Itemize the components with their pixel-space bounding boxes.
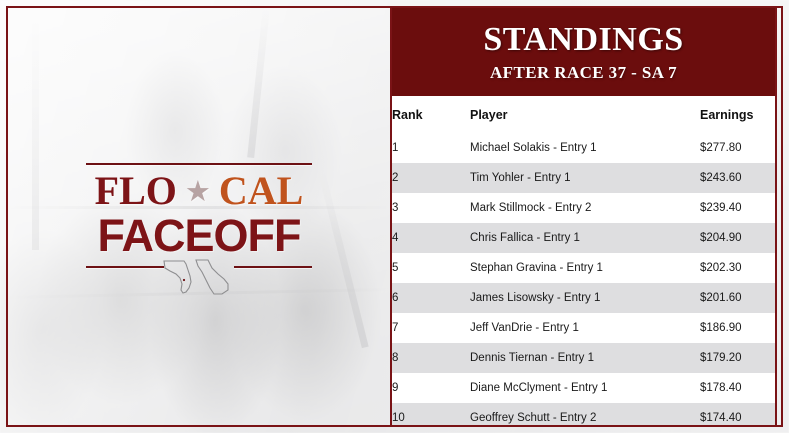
- cell-rank: 4: [392, 223, 470, 253]
- logo-bottom-row: [86, 264, 312, 294]
- cell-rank: 1: [392, 133, 470, 163]
- page-title: STANDINGS: [483, 23, 683, 57]
- logo-word-flo: FLO: [95, 171, 177, 211]
- table-row: 8Dennis Tiernan - Entry 1$179.20: [392, 343, 775, 373]
- page-subtitle: AFTER RACE 37 - SA 7: [490, 64, 677, 81]
- star-icon: ★: [185, 178, 211, 207]
- table-row: 4Chris Fallica - Entry 1$204.90: [392, 223, 775, 253]
- cell-player: James Lisowsky - Entry 1: [470, 283, 700, 313]
- cell-rank: 3: [392, 193, 470, 223]
- cell-earnings: $277.80: [700, 133, 775, 163]
- table-header-row: Rank Player Earnings: [392, 96, 775, 133]
- cell-earnings: $186.90: [700, 313, 775, 343]
- standings-table: Rank Player Earnings 1Michael Solakis - …: [392, 96, 775, 427]
- column-header-rank: Rank: [392, 96, 470, 133]
- cell-player: Michael Solakis - Entry 1: [470, 133, 700, 163]
- table-row: 2Tim Yohler - Entry 1$243.60: [392, 163, 775, 193]
- column-header-player: Player: [470, 96, 700, 133]
- florida-california-outline-icon: [162, 258, 238, 296]
- table-row: 7Jeff VanDrie - Entry 1$186.90: [392, 313, 775, 343]
- logo-bottom-rule-right: [234, 266, 312, 268]
- cell-rank: 6: [392, 283, 470, 313]
- standings-header: STANDINGS AFTER RACE 37 - SA 7: [392, 8, 775, 96]
- table-row: 10Geoffrey Schutt - Entry 2$174.40: [392, 403, 775, 427]
- cell-player: Jeff VanDrie - Entry 1: [470, 313, 700, 343]
- table-row: 9Diane McClyment - Entry 1$178.40: [392, 373, 775, 403]
- cell-player: Stephan Gravina - Entry 1: [470, 253, 700, 283]
- cell-player: Tim Yohler - Entry 1: [470, 163, 700, 193]
- cell-earnings: $202.30: [700, 253, 775, 283]
- cell-earnings: $201.60: [700, 283, 775, 313]
- standings-panel: STANDINGS AFTER RACE 37 - SA 7 Rank Play…: [390, 6, 777, 427]
- flo-cal-faceoff-logo: FLO ★ CAL FACEOFF: [86, 163, 312, 294]
- cell-player: Chris Fallica - Entry 1: [470, 223, 700, 253]
- cell-rank: 5: [392, 253, 470, 283]
- cell-earnings: $239.40: [700, 193, 775, 223]
- logo-top-rule: [86, 163, 312, 165]
- standings-graphic: FLO ★ CAL FACEOFF STANDINGS AFTER RACE 3…: [0, 0, 789, 433]
- logo-word-cal: CAL: [219, 171, 303, 211]
- cell-player: Mark Stillmock - Entry 2: [470, 193, 700, 223]
- logo-bottom-rule-left: [86, 266, 164, 268]
- cell-earnings: $178.40: [700, 373, 775, 403]
- cell-rank: 7: [392, 313, 470, 343]
- table-body: 1Michael Solakis - Entry 1$277.802Tim Yo…: [392, 133, 775, 427]
- table-row: 3Mark Stillmock - Entry 2$239.40: [392, 193, 775, 223]
- table-row: 5Stephan Gravina - Entry 1$202.30: [392, 253, 775, 283]
- column-header-earnings: Earnings: [700, 96, 775, 133]
- cell-rank: 8: [392, 343, 470, 373]
- table-row: 1Michael Solakis - Entry 1$277.80: [392, 133, 775, 163]
- cell-earnings: $179.20: [700, 343, 775, 373]
- cell-rank: 9: [392, 373, 470, 403]
- logo-word-faceoff: FACEOFF: [86, 213, 312, 258]
- logo-line-one: FLO ★ CAL: [86, 171, 312, 211]
- cell-player: Diane McClyment - Entry 1: [470, 373, 700, 403]
- table-row: 6James Lisowsky - Entry 1$201.60: [392, 283, 775, 313]
- cell-rank: 10: [392, 403, 470, 427]
- cell-earnings: $174.40: [700, 403, 775, 427]
- cell-rank: 2: [392, 163, 470, 193]
- cell-earnings: $243.60: [700, 163, 775, 193]
- cell-player: Dennis Tiernan - Entry 1: [470, 343, 700, 373]
- cell-earnings: $204.90: [700, 223, 775, 253]
- cell-player: Geoffrey Schutt - Entry 2: [470, 403, 700, 427]
